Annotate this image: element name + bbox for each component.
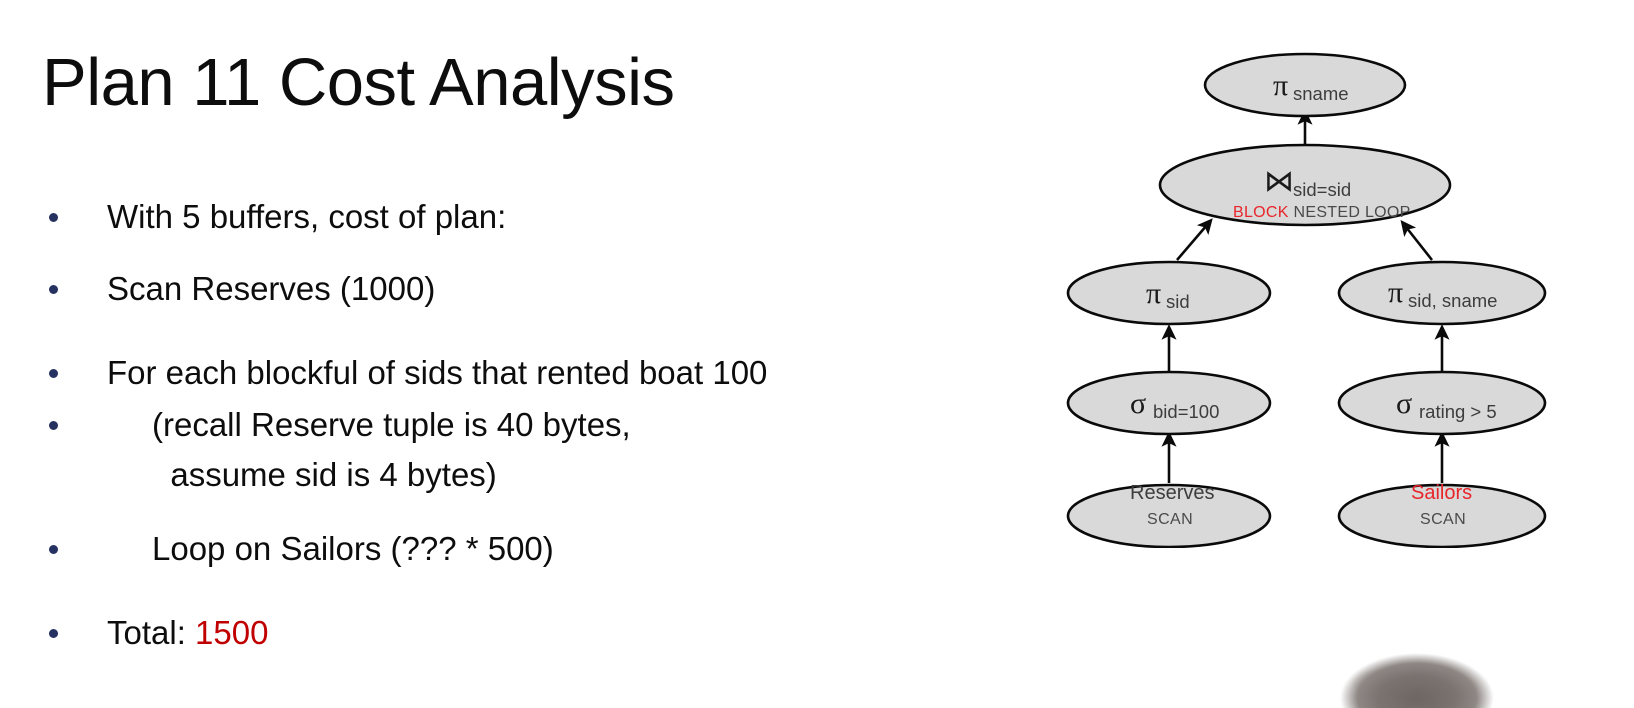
node-relation-name: Sailors — [1411, 482, 1472, 504]
node-operator-symbol: π — [1146, 277, 1161, 310]
node-projection-sid-sname: π sid, sname — [1339, 262, 1545, 324]
node-selection-bid: σ bid=100 — [1068, 372, 1270, 434]
node-algorithm-label: BLOCK NESTED LOOP — [1233, 204, 1411, 221]
node-projection-sid: π sid — [1068, 262, 1270, 324]
list-item-text: For each blockful of sids that rented bo… — [107, 348, 767, 398]
node-operator-symbol: σ — [1396, 387, 1412, 420]
presenter-head — [1322, 644, 1512, 708]
list-item: Scan Reserves (1000) — [40, 264, 1020, 314]
node-operator-symbol: ⋈ — [1264, 165, 1294, 198]
list-item-text: Loop on Sailors (??? * 500) — [152, 524, 554, 574]
list-item-text: With 5 buffers, cost of plan: — [107, 192, 506, 242]
bullet-marker-icon — [49, 285, 58, 294]
list-item: With 5 buffers, cost of plan: — [40, 192, 1020, 242]
node-access-method: SCAN — [1420, 511, 1466, 528]
bullet-marker-icon — [49, 369, 58, 378]
node-subscript: sname — [1293, 83, 1349, 104]
edge-projection-sid-sname-to-join — [1406, 227, 1432, 260]
node-projection-sname: π sname — [1205, 54, 1405, 116]
node-operator-symbol: π — [1388, 276, 1403, 309]
node-relation-name: Reserves — [1130, 482, 1214, 504]
node-relation-reserves: Reserves SCAN — [1068, 482, 1270, 547]
list-item-text: Scan Reserves (1000) — [107, 264, 435, 314]
node-subscript: sid — [1166, 291, 1190, 312]
node-relation-sailors: Sailors SCAN — [1339, 482, 1545, 547]
node-subscript: sid=sid — [1293, 179, 1351, 200]
bullet-marker-icon — [49, 213, 58, 222]
node-selection-rating: σ rating > 5 — [1339, 372, 1545, 434]
list-item-total: Total: 1500 — [40, 608, 1020, 658]
bullet-marker-icon — [49, 421, 58, 430]
list-item: For each blockful of sids that rented bo… — [40, 348, 1020, 398]
node-subscript: sid, sname — [1408, 290, 1497, 311]
node-operator-symbol: π — [1273, 69, 1288, 102]
bullet-marker-icon — [49, 629, 58, 638]
edge-projection-sid-to-join — [1177, 225, 1207, 260]
node-access-method: SCAN — [1147, 511, 1193, 528]
node-subscript: rating > 5 — [1419, 401, 1497, 422]
query-plan-diagram: π sname ⋈ sid=sid BLOCK NESTED LOOP π si… — [1040, 28, 1600, 548]
total-label: Total: — [107, 614, 195, 651]
page-title: Plan 11 Cost Analysis — [42, 44, 675, 122]
list-item: (recall Reserve tuple is 40 bytes, assum… — [40, 400, 1020, 500]
bullet-marker-icon — [49, 545, 58, 554]
bullet-list: With 5 buffers, cost of plan: Scan Reser… — [40, 192, 1020, 658]
node-subscript: bid=100 — [1153, 401, 1219, 422]
presenter-video-overlay — [1322, 640, 1512, 708]
list-item: Loop on Sailors (??? * 500) — [40, 524, 1020, 574]
list-item-text: (recall Reserve tuple is 40 bytes, assum… — [152, 400, 631, 500]
node-algorithm-highlight: BLOCK — [1233, 204, 1289, 221]
total-line: Total: 1500 — [107, 608, 268, 658]
node-operator-symbol: σ — [1130, 387, 1146, 420]
node-algorithm-rest: NESTED LOOP — [1289, 204, 1411, 221]
node-join: ⋈ sid=sid BLOCK NESTED LOOP — [1160, 145, 1450, 225]
total-value: 1500 — [195, 614, 268, 651]
